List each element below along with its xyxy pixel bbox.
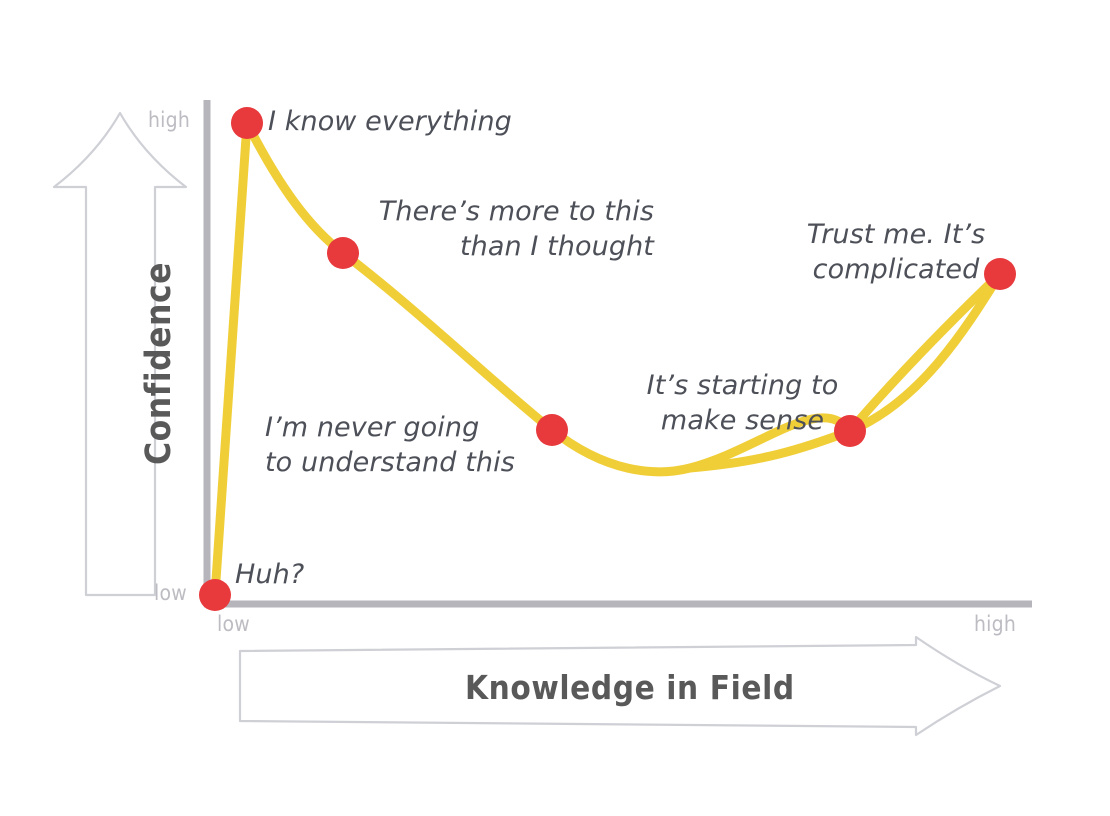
data-point-i-know-everything[interactable] xyxy=(231,107,263,139)
annotation-huh: Huh? xyxy=(235,558,304,593)
data-point-never-going-to-understand[interactable] xyxy=(536,414,568,446)
x-axis-tick-high: high xyxy=(974,612,1016,636)
annotation-i-know-everything: I know everything xyxy=(268,105,512,140)
annotation-starting-to-make-sense: It’s starting to make sense xyxy=(635,369,850,438)
y-axis-tick-low: low xyxy=(154,581,187,605)
data-point-huh[interactable] xyxy=(199,579,231,611)
x-axis-tick-low: low xyxy=(217,612,250,636)
dunning-kruger-chart: high low low high Confidence Knowledge i… xyxy=(0,0,1110,816)
y-axis-title: Confidence xyxy=(139,262,179,465)
confidence-curve xyxy=(215,123,1000,595)
annotation-theres-more-to-this: There’s more to this than I thought xyxy=(300,195,654,264)
x-axis-title: Knowledge in Field xyxy=(465,668,795,707)
annotation-never-going-to-understand: I’m never going to understand this xyxy=(265,411,515,480)
annotation-trust-me-its-complicated: Trust me. It’s complicated xyxy=(791,218,1001,287)
y-axis-tick-high: high xyxy=(148,108,190,132)
